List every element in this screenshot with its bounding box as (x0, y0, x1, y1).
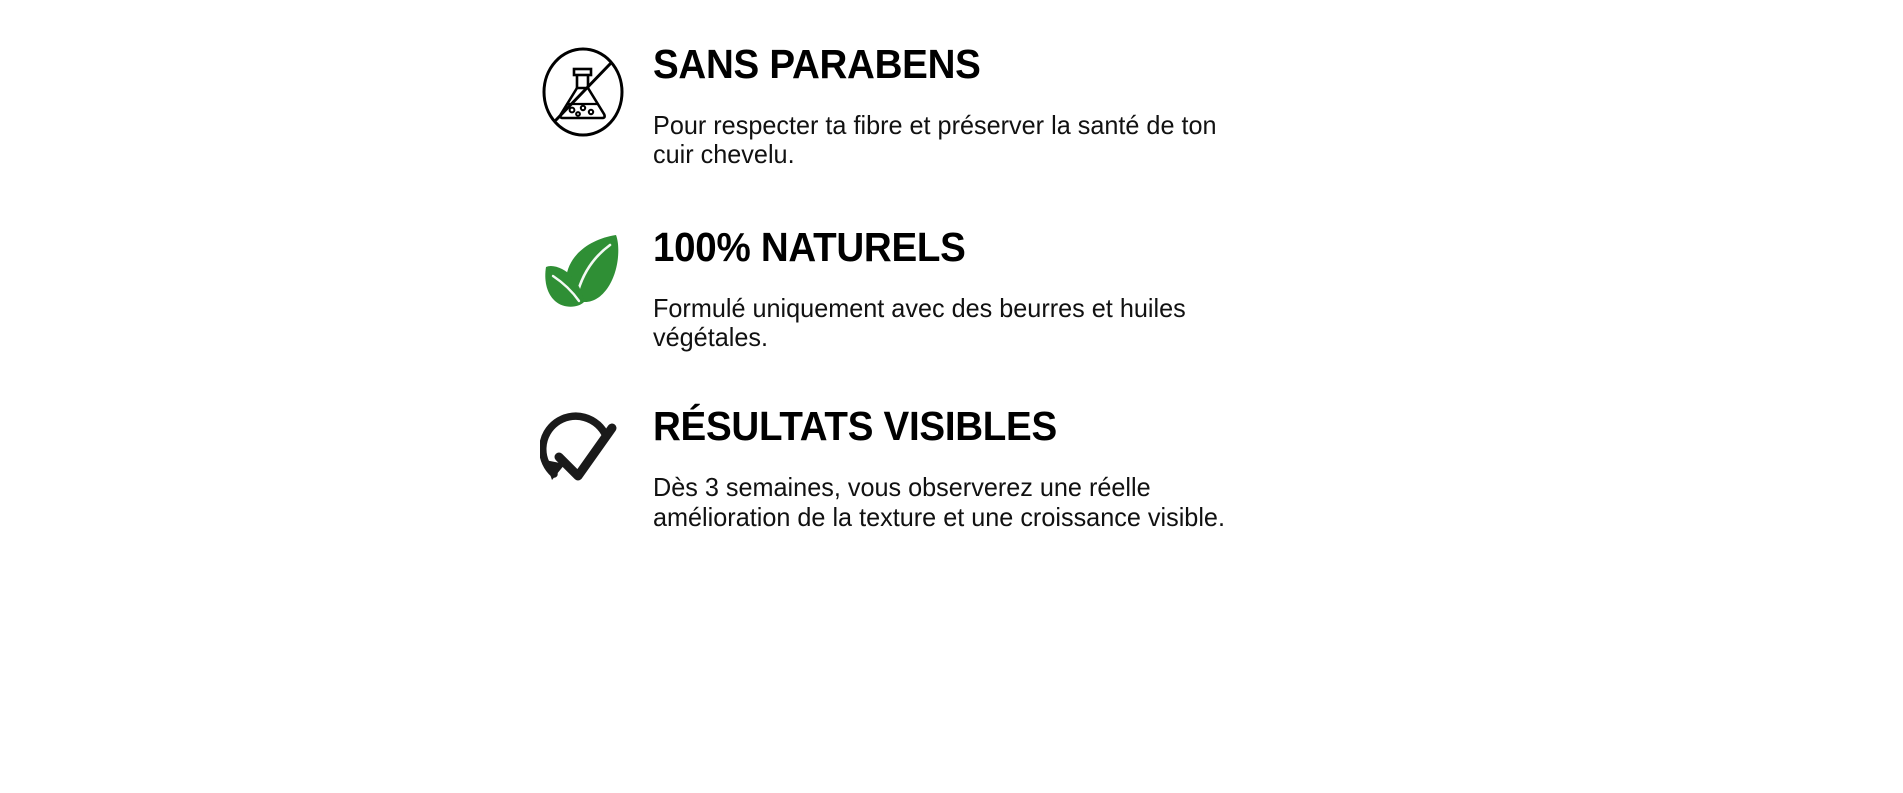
benefit-title: SANS PARABENS (653, 44, 1217, 85)
leaves-icon (540, 223, 632, 323)
benefit-body: 100% NATURELS Formulé uniquement avec de… (632, 223, 1213, 352)
benefit-item-resultats-visibles: RÉSULTATS VISIBLES Dès 3 semaines, vous … (540, 402, 1440, 531)
benefit-description: Formulé uniquement avec des beurres et h… (653, 294, 1196, 352)
benefit-title: RÉSULTATS VISIBLES (653, 406, 1255, 447)
benefit-body: SANS PARABENS Pour respecter ta fibre et… (632, 40, 1253, 169)
benefit-description: Dès 3 semaines, vous observerez une réel… (653, 473, 1274, 531)
benefit-title: 100% NATURELS (653, 227, 1179, 268)
no-parabens-icon (540, 40, 632, 140)
benefits-list: SANS PARABENS Pour respecter ta fibre et… (540, 40, 1440, 532)
benefit-body: RÉSULTATS VISIBLES Dès 3 semaines, vous … (632, 402, 1293, 531)
benefit-description: Pour respecter ta fibre et préserver la … (653, 111, 1235, 169)
check-cycle-icon (540, 402, 632, 502)
benefit-item-sans-parabens: SANS PARABENS Pour respecter ta fibre et… (540, 40, 1440, 169)
benefit-item-100-naturels: 100% NATURELS Formulé uniquement avec de… (540, 223, 1440, 352)
